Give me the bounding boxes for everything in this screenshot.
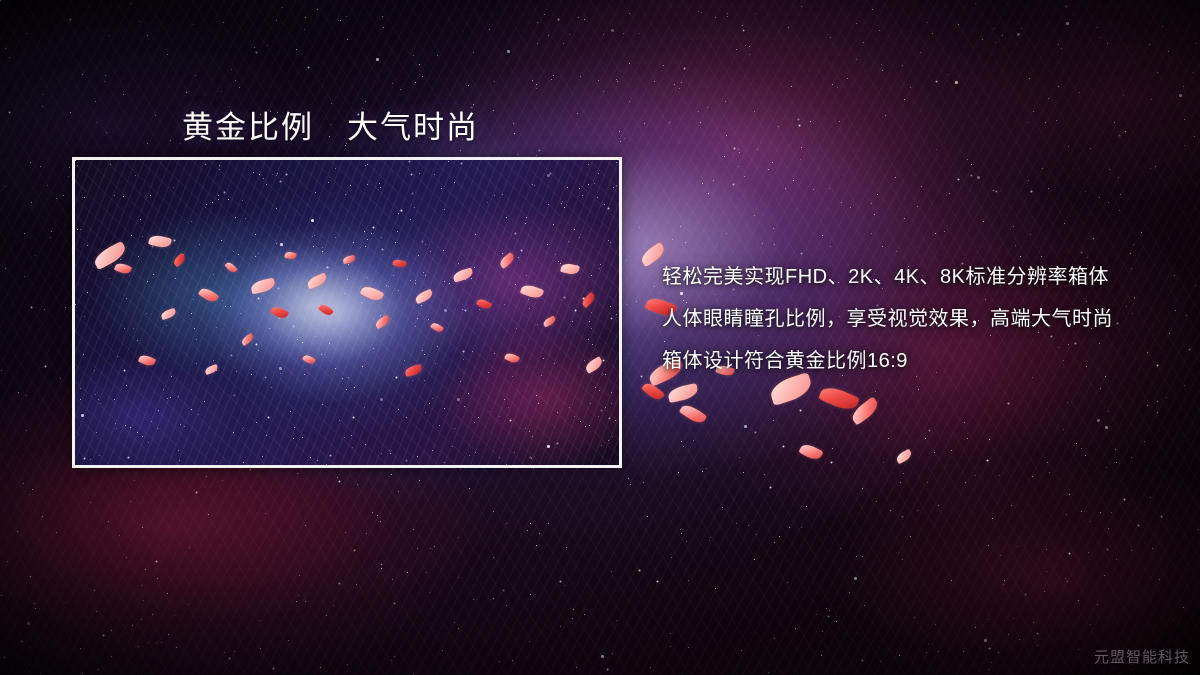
body-line: 箱体设计符合黄金比例16:9 (662, 340, 1182, 382)
framed-nebula-core (75, 160, 619, 465)
page-title: 黄金比例 大气时尚 (182, 102, 479, 147)
body-line: 轻松完美实现FHD、2K、4K、8K标准分辨率箱体 (662, 256, 1182, 298)
slide-canvas: 黄金比例 大气时尚 轻松完美实现FHD、2K、4K、8K标准分辨率箱体 人体眼睛… (0, 0, 1200, 675)
body-text-block: 轻松完美实现FHD、2K、4K、8K标准分辨率箱体 人体眼睛瞳孔比例，享受视觉效… (662, 256, 1182, 382)
watermark: 元盟智能科技 (1094, 646, 1190, 667)
body-line: 人体眼睛瞳孔比例，享受视觉效果，高端大气时尚 (662, 298, 1182, 340)
image-frame (72, 157, 622, 468)
